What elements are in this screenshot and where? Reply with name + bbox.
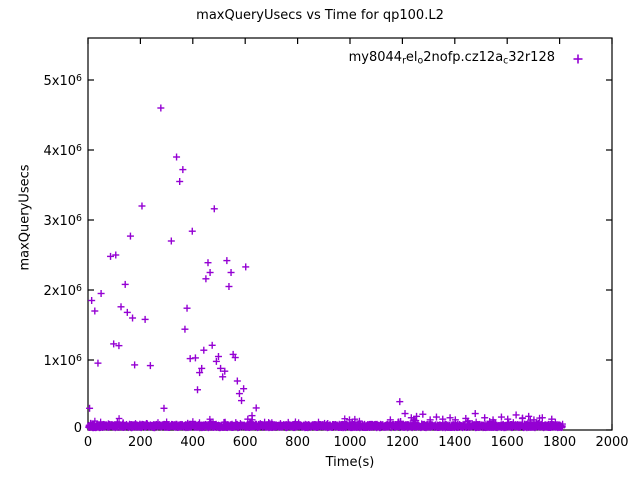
y-tick-label: 1x106 <box>44 352 82 369</box>
y-tick-label: 0 <box>74 422 82 436</box>
plot-canvas <box>0 0 640 480</box>
x-tick-label: 2000 <box>577 436 640 450</box>
axis-ticks <box>88 38 612 430</box>
data-points-series-1 <box>85 105 566 432</box>
y-tick-label: 5x106 <box>44 72 82 89</box>
legend-marker-plus-icon <box>574 55 583 64</box>
gnuplot-chart: maxQueryUsecs vs Time for qp100.L2 maxQu… <box>0 0 640 480</box>
y-tick-label: 2x106 <box>44 282 82 299</box>
plot-frame <box>88 38 612 430</box>
y-tick-label: 4x106 <box>44 142 82 159</box>
y-tick-label: 3x106 <box>44 212 82 229</box>
